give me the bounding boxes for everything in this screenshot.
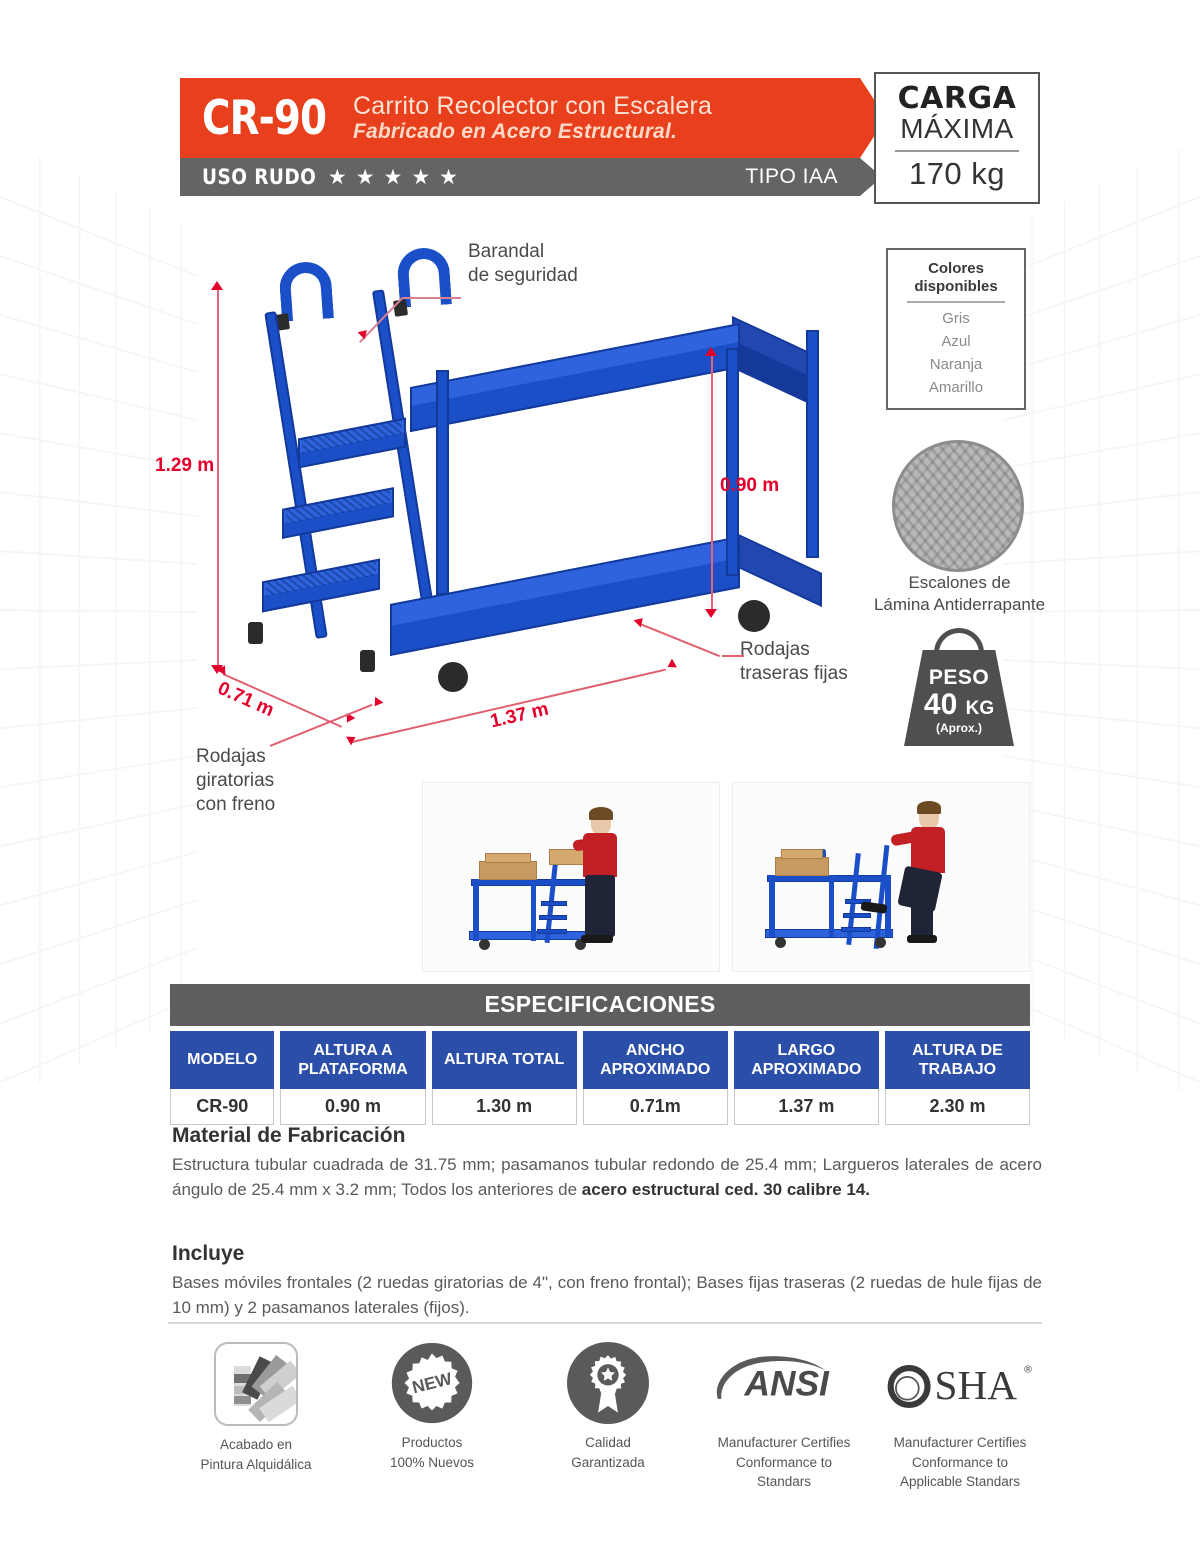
photo-climbing-cart <box>732 782 1030 972</box>
section-divider <box>168 1322 1042 1324</box>
badge-ansi: ANSI Manufacturer Certifies Conformance … <box>696 1342 872 1492</box>
color-item: Naranja <box>930 353 983 376</box>
weight-value: 40 <box>924 688 957 721</box>
dimension-platform-height: 0.90 m <box>720 475 779 497</box>
spec-column: ANCHO APROXIMADO 0.71m <box>583 1031 728 1125</box>
color-item: Gris <box>942 307 970 330</box>
badge-caption: Manufacturer Certifies Conformance to Ap… <box>894 1433 1027 1492</box>
badge-osha: SHA ® Manufacturer Certifies Conformance… <box>872 1342 1048 1492</box>
badge-caption: Productos 100% Nuevos <box>390 1433 474 1472</box>
usage-photos <box>422 782 1030 972</box>
dimension-height-total: 1.29 m <box>155 455 214 477</box>
badge-new-products: NEW Productos 100% Nuevos <box>344 1342 520 1492</box>
anti-slip-plate-caption: Escalones de Lámina Antiderrapante <box>852 572 1067 616</box>
product-diagram: 1.29 m 0.90 m 0.71 m 1.37 m Barandal de … <box>120 225 900 785</box>
spec-value: 0.71m <box>583 1089 728 1125</box>
ansi-logo-icon: ANSI <box>709 1342 859 1424</box>
max-load-box: CARGA MÁXIMA 170 kg <box>874 72 1040 204</box>
callout-rodajas-giratorias: Rodajas giratorias con freno <box>196 745 275 816</box>
spec-column: ALTURA TOTAL 1.30 m <box>432 1031 577 1125</box>
badge-caption: Acabado en Pintura Alquidálica <box>200 1435 311 1474</box>
spec-header: ANCHO APROXIMADO <box>583 1031 728 1089</box>
star-icon: ★ <box>328 167 347 188</box>
divider <box>907 301 1005 303</box>
colors-heading: Colores disponibles <box>914 260 997 296</box>
spec-value: 0.90 m <box>280 1089 425 1125</box>
rating-stars: ★★★★★ <box>328 167 458 188</box>
star-icon: ★ <box>411 167 430 188</box>
weight-label: PESO <box>929 667 989 688</box>
osha-logo-icon: SHA ® <box>881 1342 1039 1424</box>
weight-badge: PESO 40 KG (Aprox.) <box>904 650 1014 746</box>
spec-column: LARGO APROXIMADO 1.37 m <box>734 1031 879 1125</box>
includes-heading: Incluye <box>172 1242 1042 1266</box>
spec-header: ALTURA A PLATAFORMA <box>280 1031 425 1089</box>
spec-value: CR-90 <box>170 1089 274 1125</box>
osha-label: SHA <box>935 1362 1018 1408</box>
badge-caption: Manufacturer Certifies Conformance to St… <box>718 1433 851 1492</box>
caster-wheel <box>738 600 770 632</box>
material-heading: Material de Fabricación <box>172 1124 1042 1148</box>
spec-value: 1.30 m <box>432 1089 577 1125</box>
badge-paint-finish: Acabado en Pintura Alquidálica <box>168 1342 344 1492</box>
spec-column: ALTURA DE TRABAJO 2.30 m <box>885 1031 1030 1125</box>
specifications-columns: MODELO CR-90 ALTURA A PLATAFORMA 0.90 m … <box>170 1031 1030 1125</box>
spec-header: ALTURA TOTAL <box>432 1031 577 1089</box>
badge-caption: Calidad Garantizada <box>571 1433 645 1472</box>
product-title: Carrito Recolector con Escalera <box>353 92 712 120</box>
spec-column: MODELO CR-90 <box>170 1031 274 1125</box>
material-text: Estructura tubular cuadrada de 31.75 mm;… <box>172 1153 1042 1202</box>
includes-section: Incluye Bases móviles frontales (2 rueda… <box>172 1242 1042 1320</box>
material-section: Material de Fabricación Estructura tubul… <box>172 1124 1042 1202</box>
specifications-table: ESPECIFICACIONES MODELO CR-90 ALTURA A P… <box>170 984 1030 1125</box>
badge-quality: Calidad Garantizada <box>520 1342 696 1492</box>
ladder-rail-right <box>372 289 440 646</box>
color-item: Azul <box>941 330 970 353</box>
spec-header: ALTURA DE TRABAJO <box>885 1031 1030 1089</box>
max-load-value: 170 kg <box>909 156 1005 192</box>
type-label: TIPO IAA <box>745 165 838 189</box>
callout-barandal: Barandal de seguridad <box>468 240 578 288</box>
header-gray-bar: USO RUDO ★★★★★ TIPO IAA <box>180 158 860 196</box>
star-icon: ★ <box>384 167 403 188</box>
spec-header: LARGO APROXIMADO <box>734 1031 879 1089</box>
specifications-title: ESPECIFICACIONES <box>170 984 1030 1026</box>
available-colors-box: Colores disponibles Gris Azul Naranja Am… <box>886 248 1026 410</box>
spec-value: 2.30 m <box>885 1089 1030 1125</box>
weight-unit: KG <box>966 698 995 719</box>
max-load-subtitle: MÁXIMA <box>900 114 1013 143</box>
anti-slip-plate-icon <box>892 440 1024 572</box>
spec-value: 1.37 m <box>734 1089 879 1125</box>
color-item: Amarillo <box>929 376 983 399</box>
quality-rosette-icon <box>567 1342 649 1424</box>
spec-column: ALTURA A PLATAFORMA 0.90 m <box>280 1031 425 1125</box>
spec-header: MODELO <box>170 1031 274 1089</box>
model-code: CR-90 <box>202 95 326 142</box>
new-starburst-icon: NEW <box>391 1342 473 1424</box>
caster-wheel <box>438 662 468 692</box>
certification-badges: Acabado en Pintura Alquidálica NEW Produ… <box>168 1342 1048 1492</box>
registered-mark-icon: ® <box>1024 1363 1032 1375</box>
usage-label: USO RUDO <box>202 165 316 189</box>
max-load-title: CARGA <box>898 84 1017 114</box>
includes-text: Bases móviles frontales (2 ruedas girato… <box>172 1271 1042 1320</box>
paint-swatch-icon <box>214 1342 298 1426</box>
ansi-label: ANSI <box>743 1364 829 1403</box>
weight-note: (Aprox.) <box>936 721 982 735</box>
product-header-banner: CR-90 Carrito Recolector con Escalera Fa… <box>180 78 860 196</box>
star-icon: ★ <box>439 167 458 188</box>
divider <box>895 150 1019 152</box>
product-subtitle: Fabricado en Acero Estructural. <box>353 120 712 144</box>
callout-rodajas-traseras: Rodajas traseras fijas <box>740 638 848 686</box>
star-icon: ★ <box>356 167 375 188</box>
header-orange-bar: CR-90 Carrito Recolector con Escalera Fa… <box>180 78 860 158</box>
photo-loading-cart <box>422 782 720 972</box>
